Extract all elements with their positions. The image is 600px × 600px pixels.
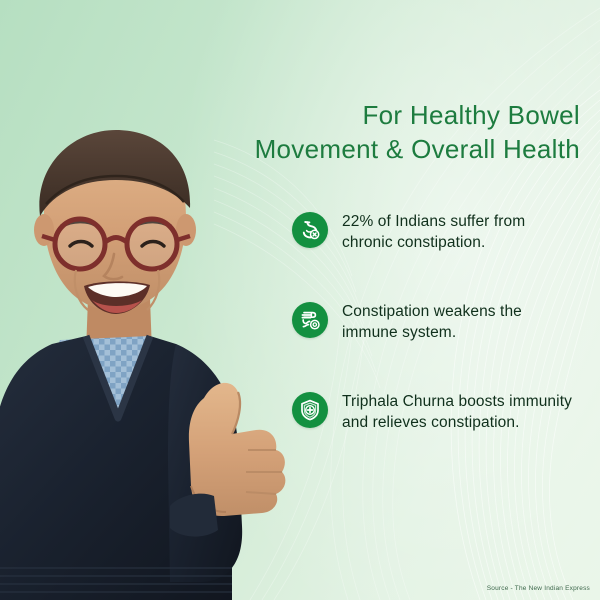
list-item: Constipation weakens the immune system.	[292, 300, 592, 343]
source-attribution: Source - The New Indian Express	[487, 585, 590, 592]
eyeglasses	[42, 219, 190, 269]
thumbs-up-hand	[189, 383, 285, 516]
man-thumbs-up-photo	[0, 130, 300, 600]
shield-plus-icon	[292, 392, 328, 428]
stomach-disorder-icon	[292, 212, 328, 248]
promo-banner: For Healthy Bowel Movement & Overall Hea…	[0, 0, 600, 600]
list-item-label: Triphala Churna boosts immunity and reli…	[342, 390, 572, 433]
intestines-immunity-icon	[292, 302, 328, 338]
list-item: Triphala Churna boosts immunity and reli…	[292, 390, 592, 433]
list-item-label: Constipation weakens the immune system.	[342, 300, 522, 343]
benefits-list: 22% of Indians suffer from chronic const…	[292, 210, 592, 433]
list-item: 22% of Indians suffer from chronic const…	[292, 210, 592, 253]
list-item-label: 22% of Indians suffer from chronic const…	[342, 210, 525, 253]
page-title: For Healthy Bowel Movement & Overall Hea…	[236, 98, 580, 166]
